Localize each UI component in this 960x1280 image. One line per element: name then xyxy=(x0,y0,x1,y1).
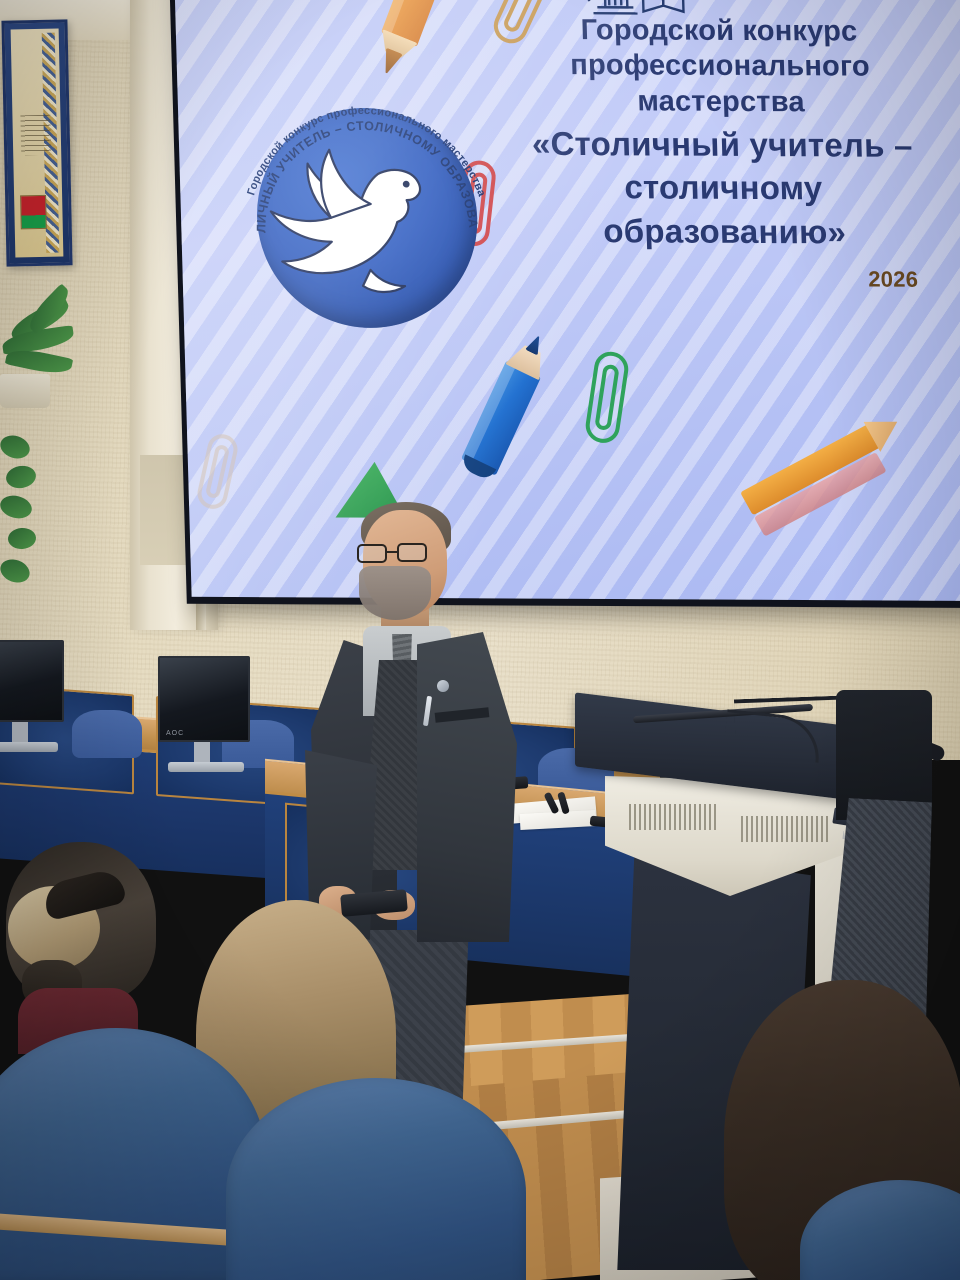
potted-plant-lower xyxy=(0,420,110,620)
speaker-beard xyxy=(359,566,431,620)
quoted-title-line-1: «Столичный учитель – xyxy=(512,123,933,166)
auditorium-photo: Городской конкурс профессионального маст… xyxy=(0,0,960,1280)
slide-title-block: Городской конкурс профессионального маст… xyxy=(508,13,936,294)
dove-icon xyxy=(259,133,474,314)
quoted-title-line-3: образованию» xyxy=(514,209,935,252)
title-line-3: мастерства xyxy=(510,84,931,122)
framed-certificate xyxy=(1,19,72,266)
title-line-2: профессионального xyxy=(509,48,930,86)
title-line-1: Городской конкурс xyxy=(508,13,929,51)
certificate-text-lines xyxy=(20,115,51,156)
speaker-jacket-right xyxy=(417,632,517,942)
certificate-paper xyxy=(11,29,64,258)
speaker-lapel-pin-icon xyxy=(437,680,449,692)
lectern-vent-left xyxy=(629,804,719,830)
orange-pencils-bottom-icon xyxy=(732,399,919,547)
monitor-brand-label: AOC xyxy=(166,730,184,737)
certificate-flag-icon xyxy=(20,195,47,230)
orange-pencil-icon xyxy=(363,0,458,87)
chair-back-1 xyxy=(72,710,142,758)
slide-year: 2026 xyxy=(515,265,936,294)
quoted-title-line-2: столичному xyxy=(513,166,934,209)
lectern-vent-right xyxy=(741,816,831,842)
eyeglasses-icon xyxy=(357,544,431,564)
competition-emblem: Городской конкурс профессионального маст… xyxy=(227,81,507,354)
